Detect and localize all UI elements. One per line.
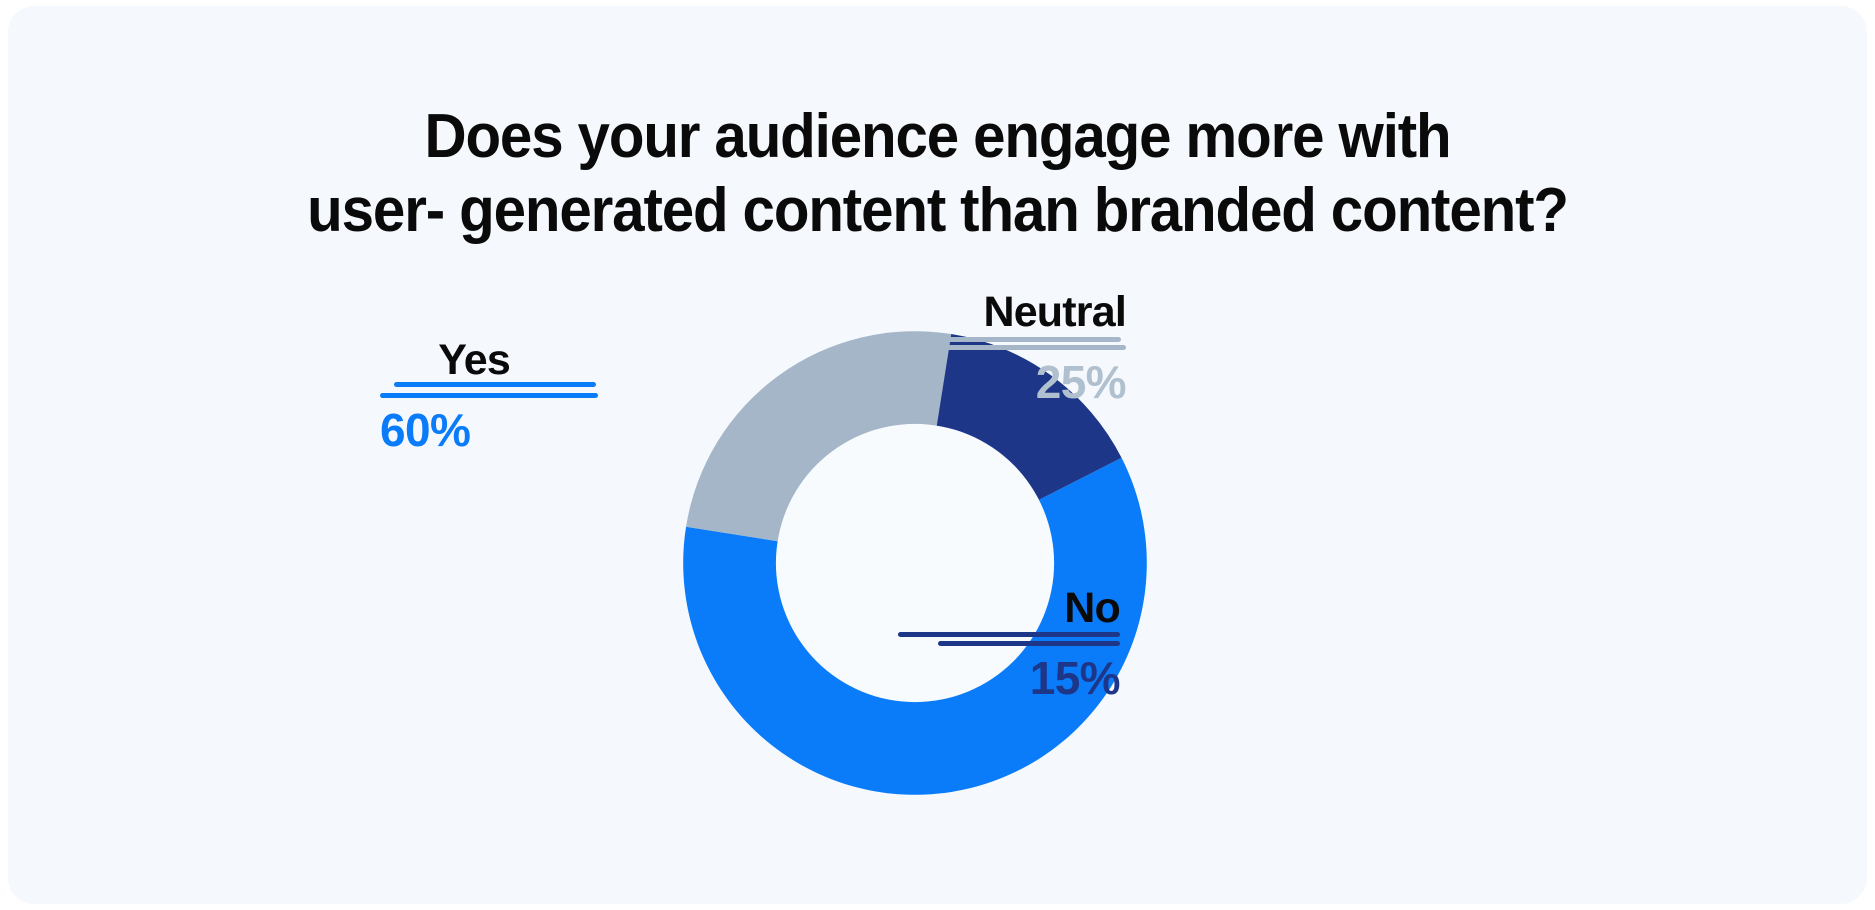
page-title: Does your audience engage more with user… — [64, 100, 1811, 248]
callout-neutral-label: Neutral — [936, 288, 1126, 336]
callout-neutral-rule — [936, 345, 1126, 350]
infographic-card: Does your audience engage more with user… — [8, 6, 1867, 904]
callout-yes-label: Yes — [380, 336, 598, 384]
callout-yes-value: 60% — [380, 404, 598, 456]
callout-no-value: 15% — [938, 652, 1120, 704]
callout-neutral-value: 25% — [936, 356, 1126, 408]
title-line-2: user- generated content than branded con… — [64, 174, 1811, 248]
callout-yes: Yes 60% — [380, 336, 598, 456]
callout-neutral: Neutral 25% — [936, 288, 1126, 408]
callout-no-label: No — [938, 584, 1120, 632]
title-line-1: Does your audience engage more with — [64, 100, 1811, 174]
callout-no-rule — [938, 641, 1120, 646]
callout-yes-rule — [380, 393, 598, 398]
callout-no: No 15% — [938, 584, 1120, 704]
